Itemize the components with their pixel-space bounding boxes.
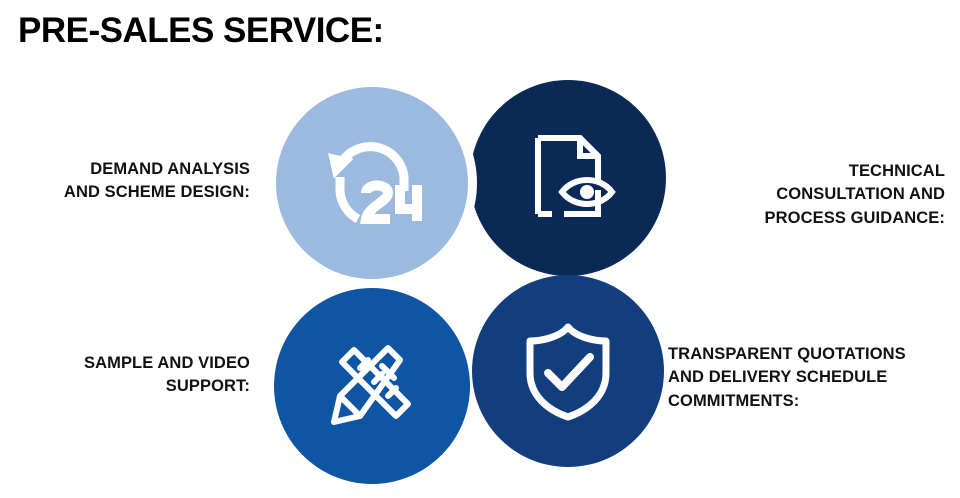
circle-demand-analysis[interactable] xyxy=(276,87,468,279)
shield-check-icon xyxy=(520,321,616,421)
label-sample-video-support: SAMPLE AND VIDEO SUPPORT: xyxy=(10,352,250,399)
label-technical-consultation: TECHNICAL CONSULTATION AND PROCESS GUIDA… xyxy=(700,160,945,230)
infographic-canvas: PRE-SALES SERVICE: xyxy=(0,0,960,498)
arrow-head-icon xyxy=(318,143,353,178)
circle-sample-video-support[interactable] xyxy=(274,288,470,484)
label-transparent-quotations: TRANSPARENT QUOTATIONS AND DELIVERY SCHE… xyxy=(668,343,960,413)
circle-transparent-quotations[interactable] xyxy=(472,275,664,467)
circle-technical-consultation[interactable] xyxy=(470,80,666,276)
digit-two-icon xyxy=(366,186,390,220)
digit-four-icon xyxy=(400,185,422,221)
clock-24-rotate-icon xyxy=(318,135,426,231)
label-demand-analysis: DEMAND ANALYSIS AND SCHEME DESIGN: xyxy=(10,158,250,205)
circle-cluster xyxy=(0,0,960,498)
document-eye-icon xyxy=(518,128,618,228)
pencil-ruler-icon xyxy=(320,334,424,438)
check-icon xyxy=(548,357,590,387)
